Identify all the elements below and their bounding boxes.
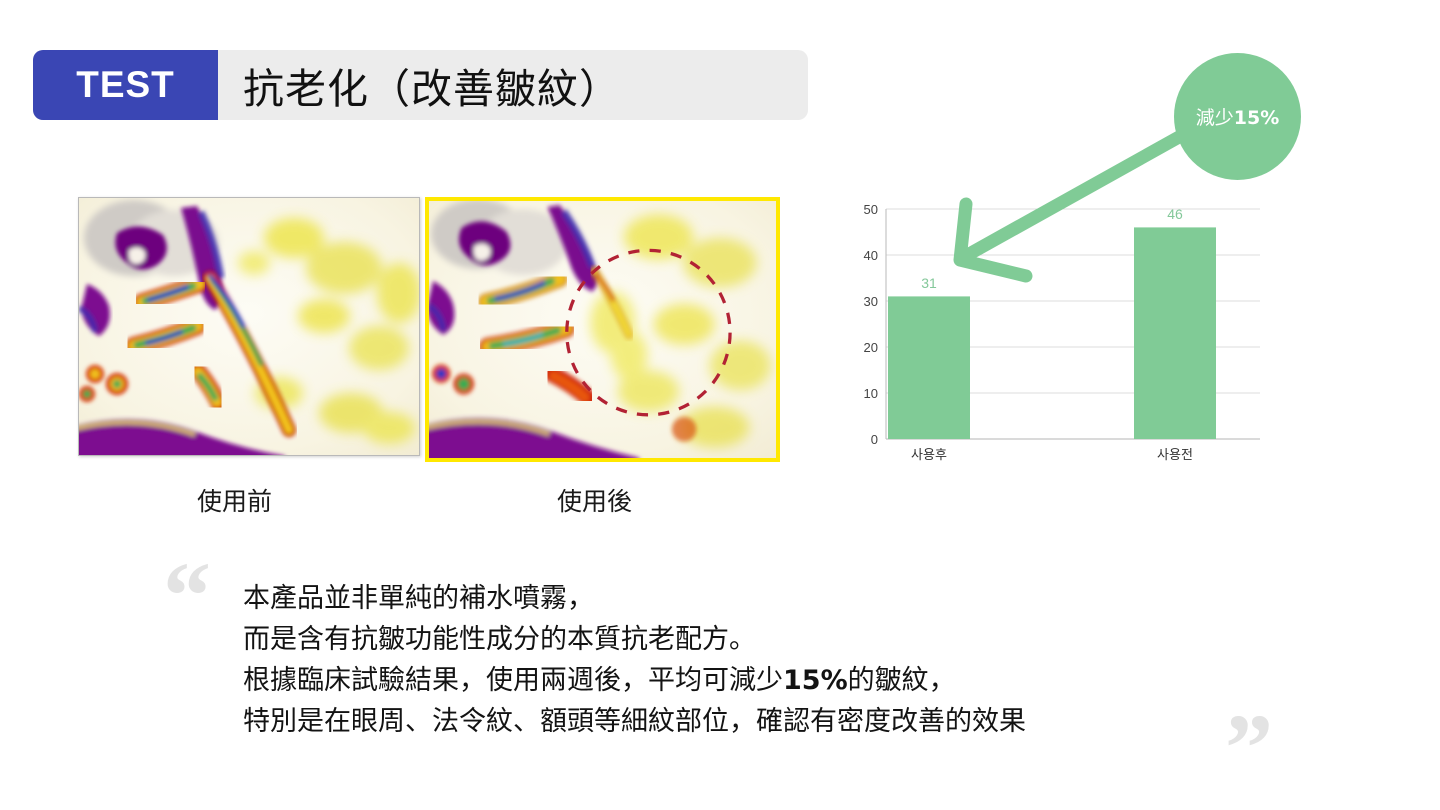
reduction-value: 15%	[1234, 107, 1279, 129]
quote-line-3-text-before: 根據臨床試驗結果，使用兩週後，平均可減少	[243, 665, 783, 696]
quote-line-2: 而是含有抗皺功能性成分的本質抗老配方。	[243, 619, 1303, 660]
quote-line-4-text: 特別是在眼周、法令紋、額頭等細紋部位，確認有密度改善的效果	[243, 706, 1026, 737]
reduction-badge: 減少15%	[1174, 53, 1301, 180]
test-badge: TEST	[33, 50, 218, 120]
y-tick-20: 20	[864, 340, 878, 355]
y-tick-0: 0	[871, 432, 878, 447]
bar-after-use[interactable]	[888, 296, 970, 439]
quote-line-3-highlight: 15%	[783, 665, 848, 696]
quote-text-block: 本產品並非單純的補水噴霧， 而是含有抗皺功能性成分的本質抗老配方。 根據臨床試驗…	[243, 578, 1303, 742]
quote-open-mark: “	[163, 548, 211, 644]
quote-line-2-text: 而是含有抗皺功能性成分的本質抗老配方。	[243, 624, 756, 655]
y-tick-50: 50	[864, 202, 878, 217]
test-badge-label: TEST	[76, 64, 175, 106]
quote-line-1: 本產品並非單純的補水噴霧，	[243, 578, 1303, 619]
reduction-badge-text: 減少15%	[1196, 103, 1280, 130]
page-header: TEST 抗老化（改善皺紋）	[33, 50, 808, 120]
quote-line-1-text: 本產品並非單純的補水噴霧，	[243, 583, 594, 614]
quote-line-4: 特別是在眼周、法令紋、額頭等細紋部位，確認有密度改善的效果	[243, 701, 1303, 742]
category-label-before-use: 사용전	[1157, 448, 1193, 463]
skin-analysis-after-graphic	[429, 201, 776, 458]
skin-analysis-before-graphic	[79, 198, 419, 455]
page-title: 抗老化（改善皺紋）	[243, 55, 621, 115]
category-label-after-use: 사용후	[911, 448, 947, 463]
caption-before: 使用前	[197, 482, 272, 518]
quote-line-3: 根據臨床試驗結果，使用兩週後，平均可減少15%的皺紋，	[243, 660, 1303, 701]
y-tick-30: 30	[864, 294, 878, 309]
skin-image-before	[78, 197, 420, 456]
reduction-prefix: 減少	[1196, 107, 1234, 129]
skin-image-after	[425, 197, 780, 462]
quote-line-3-text-after: 的皺紋，	[848, 665, 956, 696]
quote-close-mark: ”	[1225, 700, 1273, 796]
caption-after: 使用後	[557, 482, 632, 518]
y-tick-40: 40	[864, 248, 878, 263]
y-tick-10: 10	[864, 386, 878, 401]
